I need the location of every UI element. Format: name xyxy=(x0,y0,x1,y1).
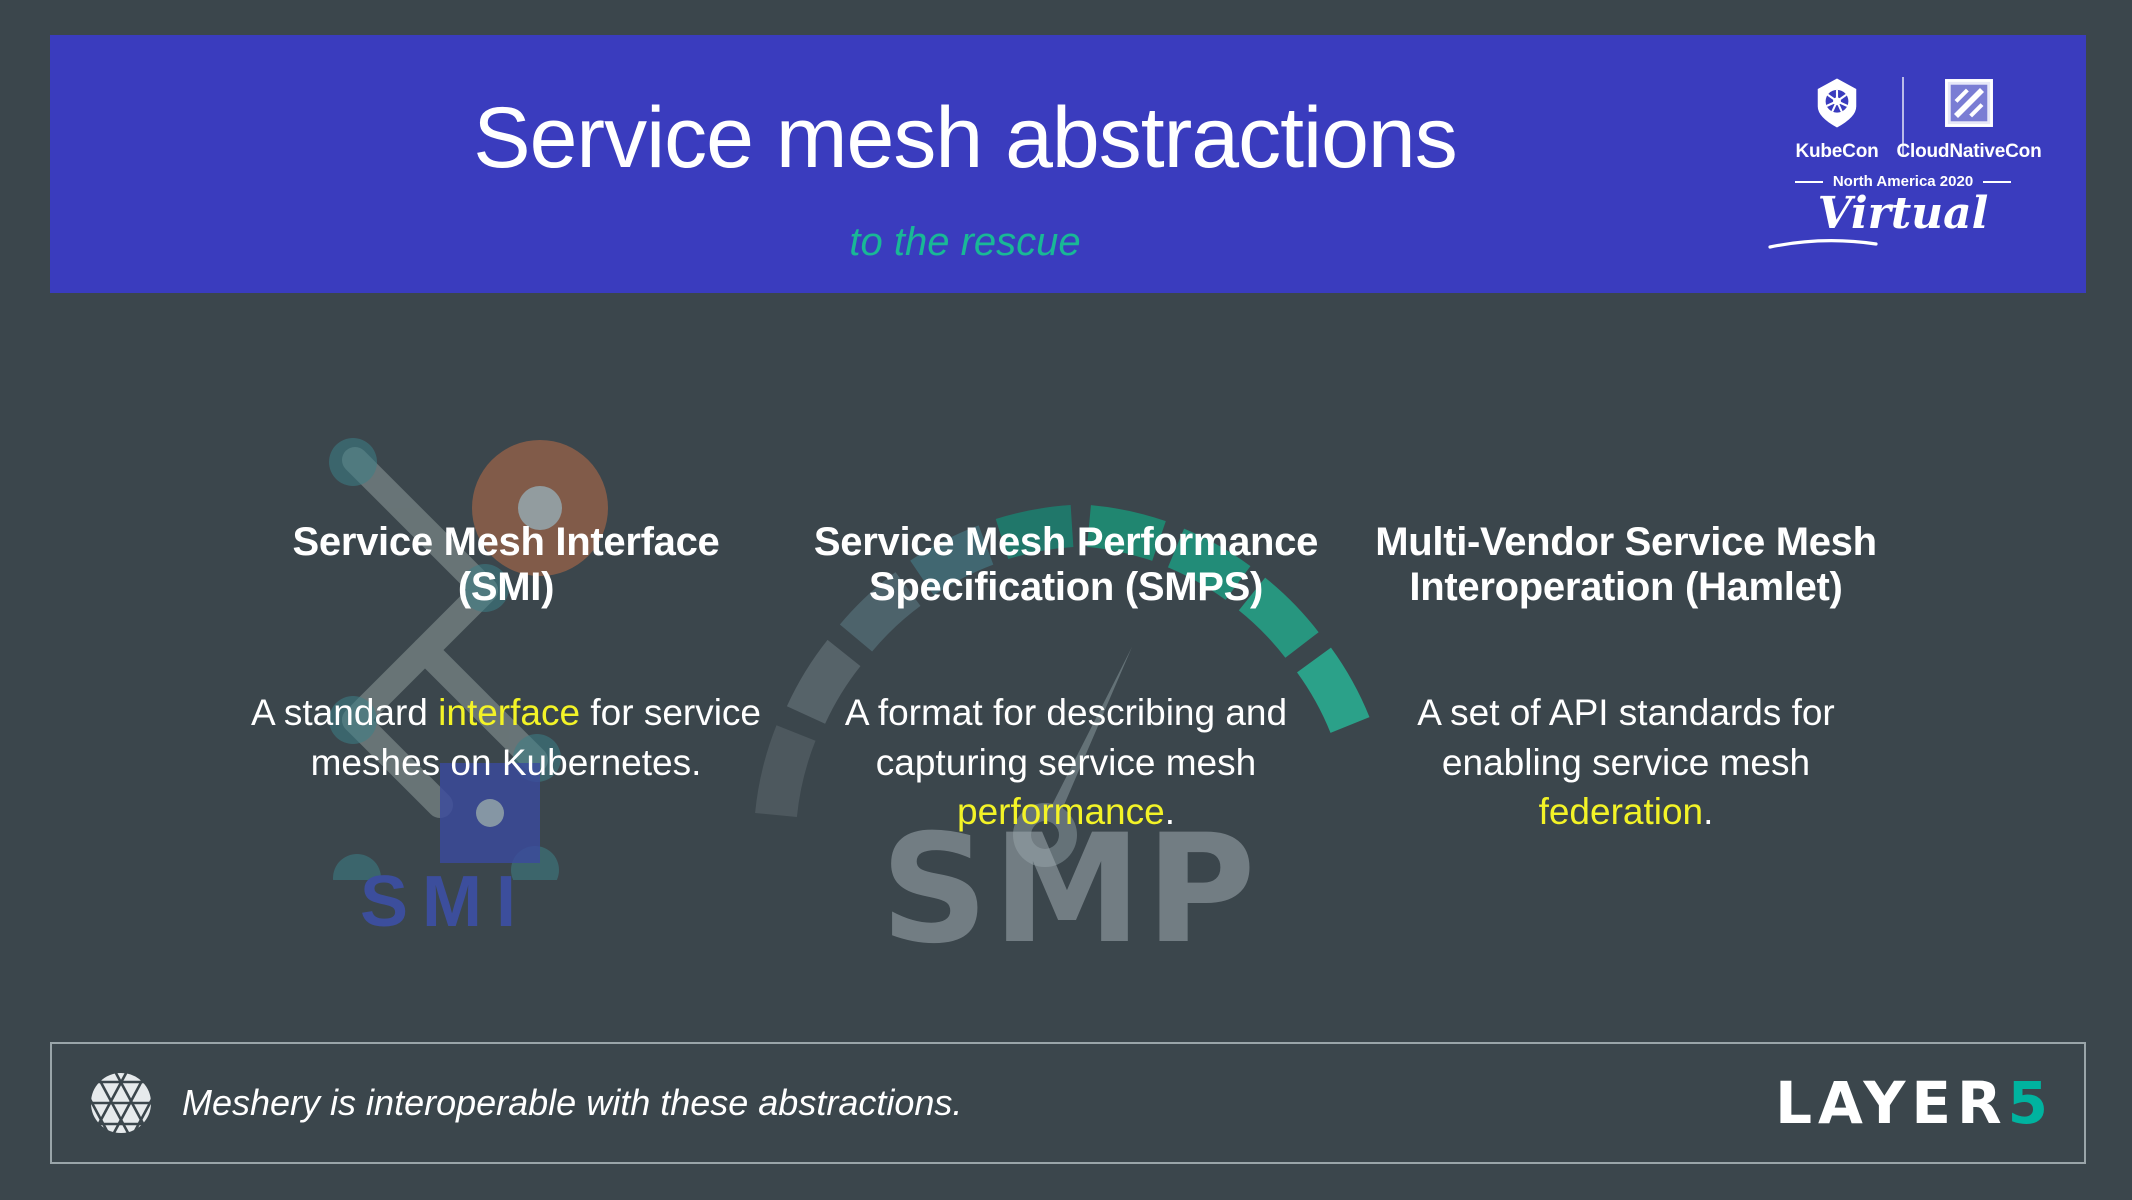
kubecon-block: KubeCon xyxy=(1778,73,1896,163)
kubecon-logo-row: KubeCon CloudNativeCon xyxy=(1768,67,2038,163)
column-smi-body-before: A standard xyxy=(251,692,438,733)
header-banner: Service mesh abstractions to the rescue xyxy=(50,35,2086,293)
rule-left xyxy=(1795,181,1823,183)
column-hamlet-body-after: . xyxy=(1703,791,1713,832)
column-hamlet-title: Multi-Vendor Service Mesh Interoperation… xyxy=(1370,520,1882,610)
meshery-logo-icon xyxy=(88,1070,154,1136)
column-smps-body-before: A format for describing and capturing se… xyxy=(845,692,1287,783)
page-subtitle: to the rescue xyxy=(50,220,1880,265)
cncf-square-icon xyxy=(1943,73,1995,133)
column-smps-highlight: performance xyxy=(957,791,1165,832)
abstractions-columns: Service Mesh Interface (SMI) A standard … xyxy=(0,520,2132,837)
cloudnativecon-block: CloudNativeCon xyxy=(1910,73,2028,163)
column-smps-body-after: . xyxy=(1165,791,1175,832)
column-smps-title: Service Mesh Performance Specification (… xyxy=(810,520,1322,610)
column-smi-highlight: interface xyxy=(438,692,580,733)
layer5-wordmark: LAYER xyxy=(1775,1069,2008,1137)
column-smps-body: A format for describing and capturing se… xyxy=(810,688,1322,838)
virtual-label: Virtual xyxy=(1768,192,2038,236)
page-title: Service mesh abstractions xyxy=(50,95,1880,181)
column-hamlet: Multi-Vendor Service Mesh Interoperation… xyxy=(1346,520,1906,837)
column-hamlet-body: A set of API standards for enabling serv… xyxy=(1370,688,1882,838)
kubecon-cloudnativecon-logo: KubeCon CloudNativeCon xyxy=(1768,67,2038,257)
column-smi: Service Mesh Interface (SMI) A standard … xyxy=(226,520,786,837)
column-hamlet-body-before: A set of API standards for enabling serv… xyxy=(1417,692,1835,783)
swoosh-underline-icon xyxy=(1768,239,1878,249)
footer-left-group: Meshery is interoperable with these abst… xyxy=(88,1070,1775,1136)
column-hamlet-highlight: federation xyxy=(1539,791,1704,832)
rule-right xyxy=(1983,181,2011,183)
slide-root: Service mesh abstractions to the rescue xyxy=(0,0,2132,1200)
column-smps: Service Mesh Performance Specification (… xyxy=(786,520,1346,837)
column-smi-title: Service Mesh Interface (SMI) xyxy=(250,520,762,610)
footer-message: Meshery is interoperable with these abst… xyxy=(182,1082,962,1124)
column-smi-body: A standard interface for service meshes … xyxy=(250,688,762,788)
smi-watermark-text: SMI xyxy=(235,866,655,938)
layer5-logo: LAYER 5 xyxy=(1775,1069,2048,1137)
cloudnativecon-label: CloudNativeCon xyxy=(1897,141,2042,163)
layer5-digit: 5 xyxy=(2008,1069,2048,1137)
kubernetes-helm-icon xyxy=(1809,73,1865,133)
smp-watermark-text: SMP xyxy=(740,815,1400,965)
footer-bar: Meshery is interoperable with these abst… xyxy=(50,1042,2086,1164)
kubecon-label: KubeCon xyxy=(1795,141,1878,163)
